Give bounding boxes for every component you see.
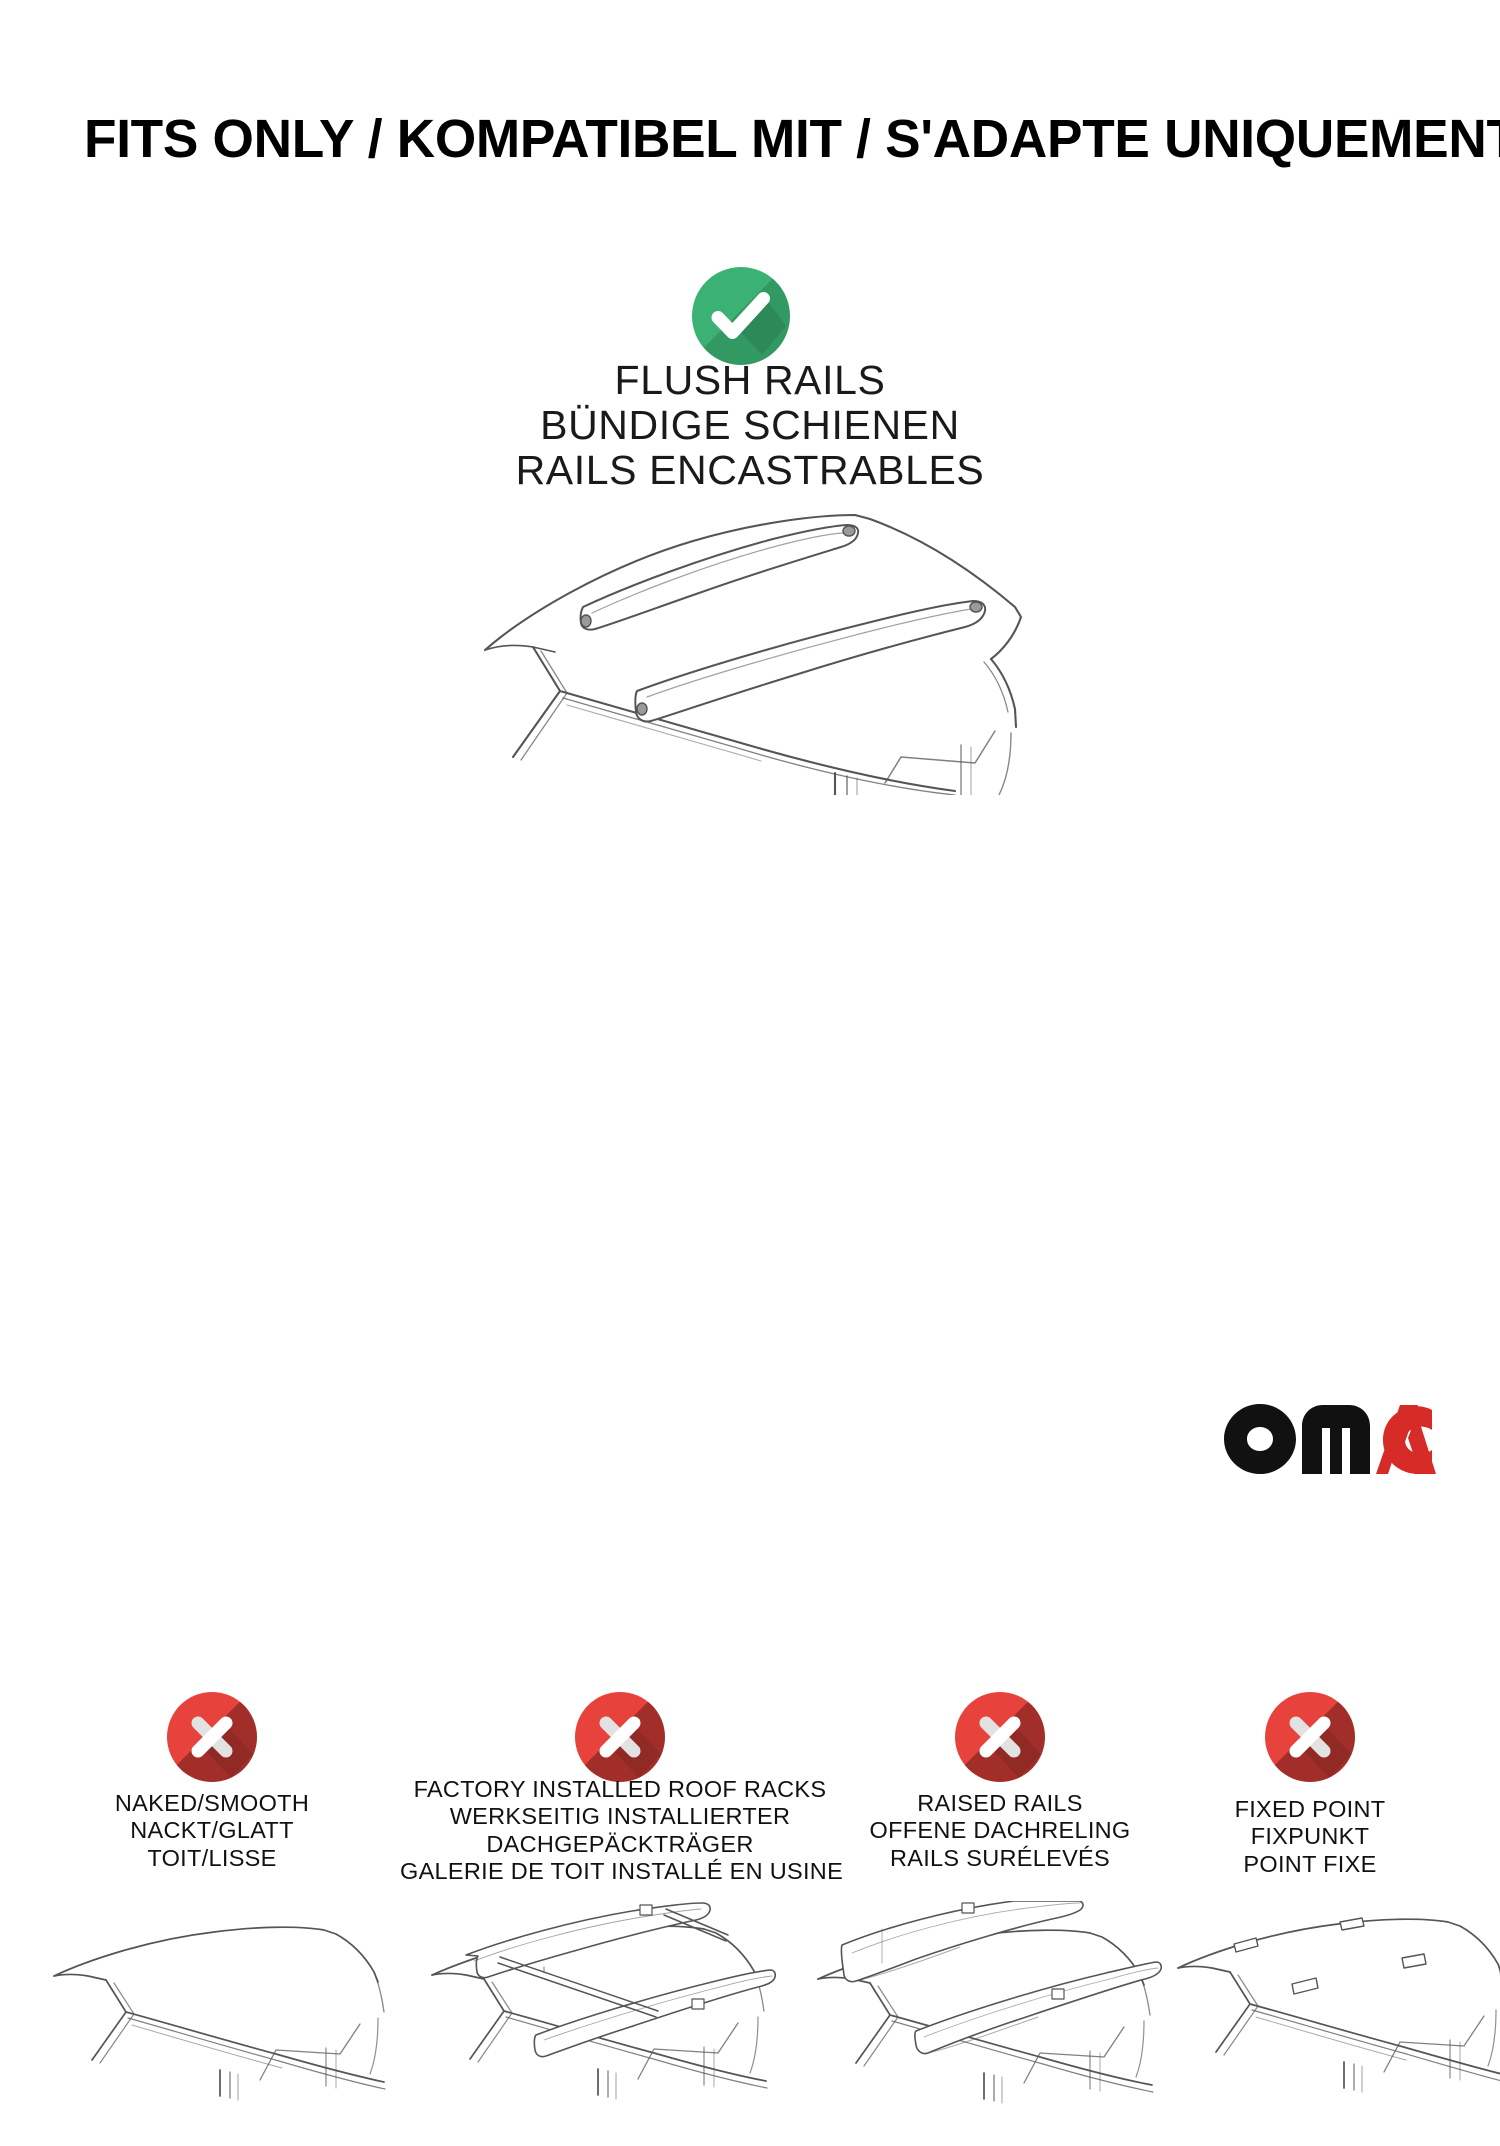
check-mark-glyph — [692, 267, 790, 365]
compatible-caption-line-en: FLUSH RAILS — [380, 358, 1120, 403]
incompatible-caption-factory-roof-racks: FACTORY INSTALLED ROOF RACKS WERKSEITIG … — [400, 1776, 840, 1885]
caption-line-fr: TOIT/LISSE — [42, 1845, 382, 1872]
compatible-caption-line-de: BÜNDIGE SCHIENEN — [380, 403, 1120, 448]
omac-logo-mark — [1222, 1402, 1438, 1476]
caption-line-en: FIXED POINT — [1140, 1796, 1480, 1823]
incompatible-caption-fixed-point: FIXED POINT FIXPUNKT POINT FIXE — [1140, 1796, 1480, 1878]
omac-logo — [1222, 1402, 1438, 1476]
page-title-text: FITS ONLY / KOMPATIBEL MIT / S'ADAPTE UN… — [84, 112, 1500, 166]
caption-line-de-2: DACHGEPÄCKTRÄGER — [400, 1831, 840, 1858]
compatible-caption-line-fr: RAILS ENCASTRABLES — [380, 448, 1120, 493]
caption-line-de-1: WERKSEITIG INSTALLIERTER — [400, 1803, 840, 1830]
cross-circle-icon — [167, 1692, 257, 1782]
incompatible-caption-naked-smooth: NAKED/SMOOTH NACKT/GLATT TOIT/LISSE — [42, 1790, 382, 1872]
caption-line-en: RAISED RAILS — [830, 1790, 1170, 1817]
caption-line-de: NACKT/GLATT — [42, 1817, 382, 1844]
cross-mark-glyph — [1265, 1692, 1355, 1782]
cross-mark-glyph — [167, 1692, 257, 1782]
caption-line-de: OFFENE DACHRELING — [830, 1817, 1170, 1844]
caption-line-fr: RAILS SURÉLEVÉS — [830, 1845, 1170, 1872]
car-roof-raised-rails-illustration — [812, 1901, 1162, 2141]
incompatible-caption-raised-rails: RAISED RAILS OFFENE DACHRELING RAILS SUR… — [830, 1790, 1170, 1872]
check-circle-icon — [692, 267, 790, 365]
car-roof-fixed-point-illustration — [1172, 1906, 1500, 2141]
caption-line-fr: GALERIE DE TOIT INSTALLÉ EN USINE — [400, 1858, 840, 1885]
car-roof-flush-rails-illustration — [455, 495, 1065, 795]
cross-circle-icon — [1265, 1692, 1355, 1782]
car-roof-factory-roof-racks-illustration — [426, 1901, 776, 2141]
page-title: FITS ONLY / KOMPATIBEL MIT / S'ADAPTE UN… — [84, 108, 1429, 170]
cross-circle-icon — [955, 1692, 1045, 1782]
cross-circle-icon — [575, 1692, 665, 1782]
caption-line-en: NAKED/SMOOTH — [42, 1790, 382, 1817]
cross-mark-glyph — [955, 1692, 1045, 1782]
caption-line-fr: POINT FIXE — [1140, 1851, 1480, 1878]
caption-line-en: FACTORY INSTALLED ROOF RACKS — [400, 1776, 840, 1803]
caption-line-de: FIXPUNKT — [1140, 1823, 1480, 1850]
car-roof-naked-smooth-illustration — [48, 1908, 388, 2138]
cross-mark-glyph — [575, 1692, 665, 1782]
compatible-caption: FLUSH RAILS BÜNDIGE SCHIENEN RAILS ENCAS… — [380, 358, 1120, 493]
